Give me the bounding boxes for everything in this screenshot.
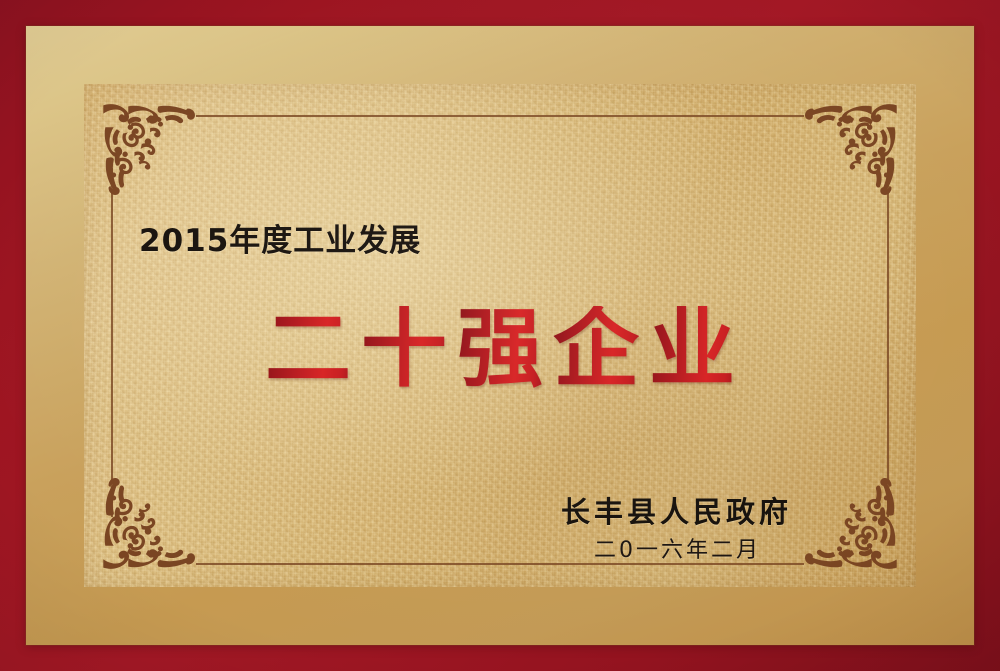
award-title-char: 企 (553, 306, 639, 394)
issuing-authority: 长丰县人民政府 (561, 489, 792, 531)
certificate-content: 2015年度工业发展 二十强企业 长丰县人民政府 二0一六年二月 (84, 84, 916, 587)
award-title-char: 十 (361, 306, 447, 394)
brass-border-band: 2015年度工业发展 二十强企业 长丰县人民政府 二0一六年二月 (26, 26, 974, 645)
award-plaque: 2015年度工业发展 二十强企业 长丰县人民政府 二0一六年二月 (0, 0, 1000, 671)
award-title-char: 强 (457, 306, 543, 394)
award-main-title: 二十强企业 (84, 306, 916, 394)
award-title-char: 业 (649, 306, 735, 394)
award-title-char: 二 (265, 306, 351, 394)
issue-date: 二0一六年二月 (594, 532, 761, 564)
award-subtitle: 2015年度工业发展 (139, 215, 421, 260)
certificate-inner-panel: 2015年度工业发展 二十强企业 长丰县人民政府 二0一六年二月 (84, 84, 916, 587)
